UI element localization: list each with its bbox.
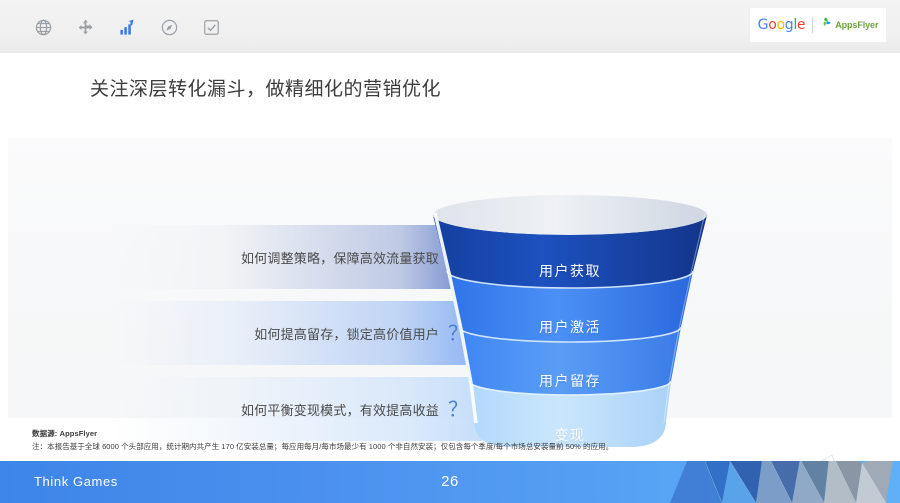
question-text-1: 如何调整策略，保障高效流量获取 <box>241 248 439 267</box>
checkbox-icon[interactable] <box>200 16 222 38</box>
move-icon[interactable] <box>74 16 96 38</box>
google-logo-g1: G <box>758 17 769 33</box>
top-toolbar: Google AppsFlyer <box>0 0 900 53</box>
google-logo-e: e <box>797 17 805 33</box>
bottom-bar: Think Games 26 <box>0 461 900 503</box>
appsflyer-wordmark: AppsFlyer <box>835 20 878 30</box>
globe-icon[interactable] <box>32 16 54 38</box>
slide-canvas: 关注深层转化漏斗，做精细化的营销优化 如何调整策略，保障高效流量获取 ？ 如何提… <box>0 53 900 503</box>
compass-icon[interactable] <box>158 16 180 38</box>
brand-logos: Google AppsFlyer <box>750 8 886 42</box>
question-text-3: 如何平衡变现模式，有效提高收益 <box>241 400 439 419</box>
funnel-graphic <box>425 193 715 453</box>
conversion-funnel: 用户获取 用户激活 用户留存 变现 <box>425 193 715 453</box>
question-text-2: 如何提高留存，锁定高价值用户 <box>254 324 439 343</box>
bar-chart-icon[interactable] <box>116 16 138 38</box>
brand-divider <box>812 17 813 33</box>
google-logo-o2: o <box>776 17 784 33</box>
toolbar-icon-group <box>32 16 222 38</box>
appsflyer-logo: AppsFlyer <box>820 16 878 34</box>
google-logo: Google <box>758 17 806 33</box>
appsflyer-mark-icon <box>820 16 833 34</box>
page-title: 关注深层转化漏斗，做精细化的营销优化 <box>90 74 441 101</box>
page-number: 26 <box>0 473 900 490</box>
